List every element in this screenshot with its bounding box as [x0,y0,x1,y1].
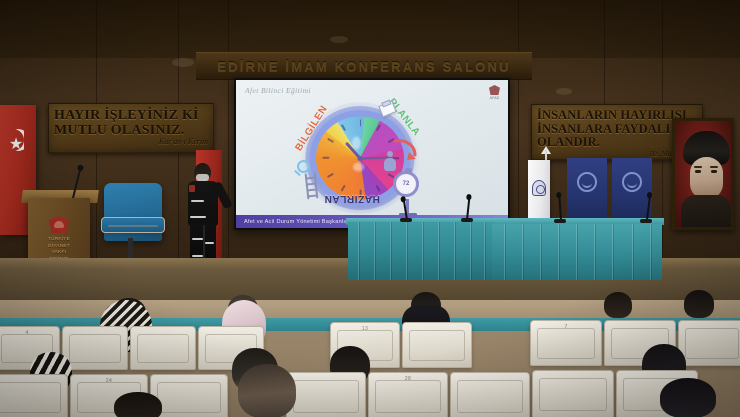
reflective-strip [192,238,203,240]
plaque-left-line1: HAYIR İŞLEYİNİZ Kİ [54,108,208,123]
audience-head [684,290,714,318]
star-icon: ★ [8,137,24,153]
clock-tick [387,173,394,178]
podium-line2: DİYANET [28,243,90,250]
clock-tick [375,185,380,192]
ceremonial-flag [528,160,550,222]
portrait-eye [711,170,717,173]
clock-tick [360,120,362,127]
slide-header-text: Afet Bilinci Eğitimi [245,86,311,95]
ceiling-light [172,58,194,67]
slide-footer-text: Afet ve Acil Durum Yönetimi Başkanlığı [236,219,350,225]
microphone-base [640,219,652,223]
clock-center-hub [357,156,362,161]
microphone-base [554,219,566,223]
audience-seat[interactable]: 28 [368,372,448,417]
clock-highlight [352,137,361,150]
plaque-left-source: Kur'an-ı Kerim [54,138,208,147]
hall-name-sign: EDİRNE İMAM KONFERANS SALONU [196,52,532,80]
stage-armchair [104,183,162,241]
audience-seat[interactable] [286,372,366,417]
afad-logo-caption: AFAD [488,96,501,100]
seat-number: 13 [331,326,399,332]
label-hazirlan: HAZIRLAN [324,193,380,204]
reflective-strip [205,242,214,244]
clock-tick [375,124,380,131]
audience-seat[interactable] [0,374,68,417]
audience-seat[interactable] [130,326,196,370]
microphone-base [400,218,412,222]
portrait-eye [695,170,701,173]
clock-tick [327,138,334,143]
podium-line3: VAKFI [28,249,90,256]
seat-number: 24 [71,378,147,384]
portrait-brow [694,166,702,168]
podium-emblem-icon [49,216,69,233]
portrait-brow [710,166,718,168]
reflective-strip [192,255,203,257]
microphone-base [461,218,473,222]
audience-seat[interactable] [450,372,530,417]
clock-tick [322,157,329,159]
clock-tick [327,173,334,178]
audience-headscarf [660,378,716,417]
banner-logo-icon [622,172,642,192]
seat-number: 4 [0,330,59,336]
presenter-mask [196,174,209,181]
podium-line1: TÜRKİYE [28,236,90,243]
portrait-body [681,195,731,230]
reflective-strip [191,200,204,202]
crest-icon [489,85,500,95]
head-table-skirt-right [492,224,662,280]
stopwatch-crown [405,168,412,172]
red-arrow-svg [393,139,419,161]
audience-head [114,392,162,417]
presenter-shoulder-patch [189,185,195,192]
disaster-cycle-clock-graphic: BİLGİLEN PLANLA HAZIRLAN [292,99,427,217]
ceiling-light [556,88,572,95]
conference-hall-photo: EDİRNE İMAM KONFERANS SALONU HAYIR İŞLEY… [0,0,740,417]
audience-seat[interactable]: 7 [530,320,602,366]
portrait-face [690,157,723,199]
plaque-left-line2: MUTLU OLASINIZ. [54,123,208,138]
audience-seat[interactable] [532,370,614,417]
seat-number: 7 [531,324,601,330]
clock-tick [340,124,345,131]
audience-head [604,292,632,318]
stopwatch-icon: 72 [393,171,419,197]
wall-banner-1 [567,158,607,224]
banner-logo-icon [577,172,597,192]
wall-seam [228,0,229,300]
stopwatch-stand [406,199,409,214]
flag-emblem-icon [532,180,546,196]
afad-logo: AFAD [488,85,501,101]
clock-highlight [353,163,364,172]
ceiling-light [330,36,348,43]
seat-number: 28 [369,376,447,382]
audience-seat[interactable] [678,320,740,366]
magnifier-icon [297,160,310,173]
head-table-skirt-left [348,222,494,280]
armchair-seat [101,217,165,233]
ataturk-portrait [672,118,734,230]
stopwatch-value: 72 [396,181,416,187]
audience-seat[interactable] [62,326,128,370]
wall-upper-band [0,0,740,58]
audience-seat[interactable] [402,322,472,368]
red-arrow-icon [393,139,419,161]
reflective-strip [190,216,206,218]
hall-name-text: EDİRNE İMAM KONFERANS SALONU [217,59,510,74]
clock-tick [340,185,345,192]
audience-head [238,364,296,417]
wall-plaque-left: HAYIR İŞLEYİNİZ Kİ MUTLU OLASINIZ. Kur'a… [48,103,214,153]
